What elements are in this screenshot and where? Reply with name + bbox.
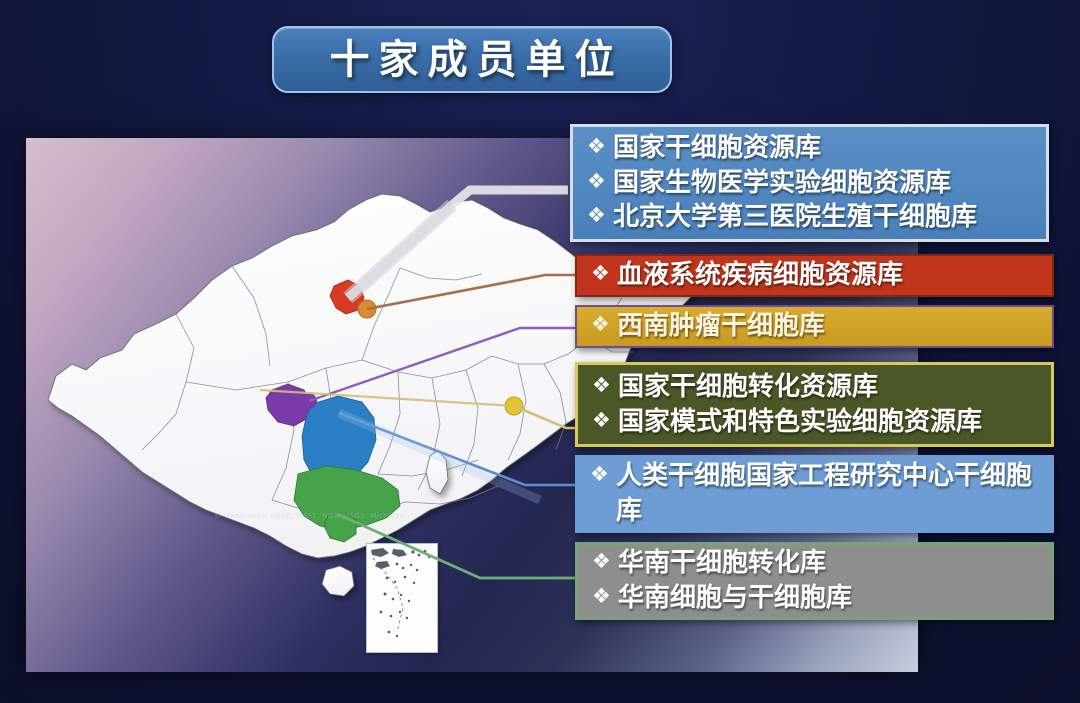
south-china-sea-inset <box>366 543 438 653</box>
callout-label: 西南肿瘤干细胞库 <box>617 309 825 344</box>
list-item: ❖ 北京大学第三医院生殖干细胞库 <box>587 200 1036 235</box>
list-item: ❖ 国家干细胞资源库 <box>587 131 1036 166</box>
callout-southwest-tumor[interactable]: ❖ 西南肿瘤干细胞库 <box>575 305 1054 348</box>
callout-label: 血液系统疾病细胞资源库 <box>617 258 903 293</box>
diamond-bullet-icon: ❖ <box>592 546 618 576</box>
callout-blood-disease[interactable]: ❖ 血液系统疾病细胞资源库 <box>575 254 1054 297</box>
callout-label: 人类干细胞国家工程研究中心干细胞库 <box>616 459 1043 528</box>
callout-label: 北京大学第三医院生殖干细胞库 <box>613 200 977 235</box>
list-item: ❖ 人类干细胞国家工程研究中心干细胞库 <box>590 459 1043 528</box>
list-item: ❖ 华南细胞与干细胞库 <box>592 581 1041 616</box>
callout-south-china[interactable]: ❖ 华南干细胞转化库 ❖ 华南细胞与干细胞库 <box>575 542 1054 620</box>
callout-label: 国家干细胞转化资源库 <box>618 370 878 405</box>
list-item: ❖ 华南干细胞转化库 <box>592 546 1041 581</box>
callout-national-stem-cell[interactable]: ❖ 国家干细胞资源库 ❖ 国家生物医学实验细胞资源库 ❖ 北京大学第三医院生殖干… <box>570 124 1049 242</box>
slide-title-pill: 十家成员单位 <box>272 26 672 93</box>
marker-tianjin <box>358 300 376 318</box>
list-item: ❖ 国家生物医学实验细胞资源库 <box>587 166 1036 201</box>
diamond-bullet-icon: ❖ <box>591 309 617 339</box>
diamond-bullet-icon: ❖ <box>592 370 618 400</box>
page-title: 十家成员单位 <box>321 40 624 80</box>
callout-human-stem-cell-center[interactable]: ❖ 人类干细胞国家工程研究中心干细胞库 <box>575 455 1054 533</box>
diamond-bullet-icon: ❖ <box>590 459 616 489</box>
diamond-bullet-icon: ❖ <box>592 581 618 611</box>
hainan-island <box>322 566 354 596</box>
diamond-bullet-icon: ❖ <box>587 200 613 230</box>
callout-label: 华南干细胞转化库 <box>618 546 826 581</box>
callout-label: 国家生物医学实验细胞资源库 <box>613 166 951 201</box>
callout-label: 华南细胞与干细胞库 <box>618 581 852 616</box>
diamond-bullet-icon: ❖ <box>587 166 613 196</box>
diamond-bullet-icon: ❖ <box>592 405 618 435</box>
map-attribution: © GeoNames, HERE, MSFT, NGA, USGS, Micro… <box>214 512 406 520</box>
callout-label: 国家干细胞资源库 <box>613 131 821 166</box>
slide-root: 十家成员单位 <box>0 0 1080 703</box>
marker-hunan <box>331 405 347 421</box>
list-item: ❖ 血液系统疾病细胞资源库 <box>591 258 1042 293</box>
diamond-bullet-icon: ❖ <box>591 258 617 288</box>
marker-shanghai <box>505 397 523 415</box>
list-item: ❖ 西南肿瘤干细胞库 <box>591 309 1042 344</box>
callout-translational[interactable]: ❖ 国家干细胞转化资源库 ❖ 国家模式和特色实验细胞资源库 <box>575 362 1054 447</box>
marker-beijing <box>342 292 354 304</box>
diamond-bullet-icon: ❖ <box>587 131 613 161</box>
inset-svg <box>367 544 437 652</box>
marker-chongqing <box>301 393 317 409</box>
list-item: ❖ 国家模式和特色实验细胞资源库 <box>592 405 1041 440</box>
list-item: ❖ 国家干细胞转化资源库 <box>592 370 1041 405</box>
callout-label: 国家模式和特色实验细胞资源库 <box>618 405 982 440</box>
